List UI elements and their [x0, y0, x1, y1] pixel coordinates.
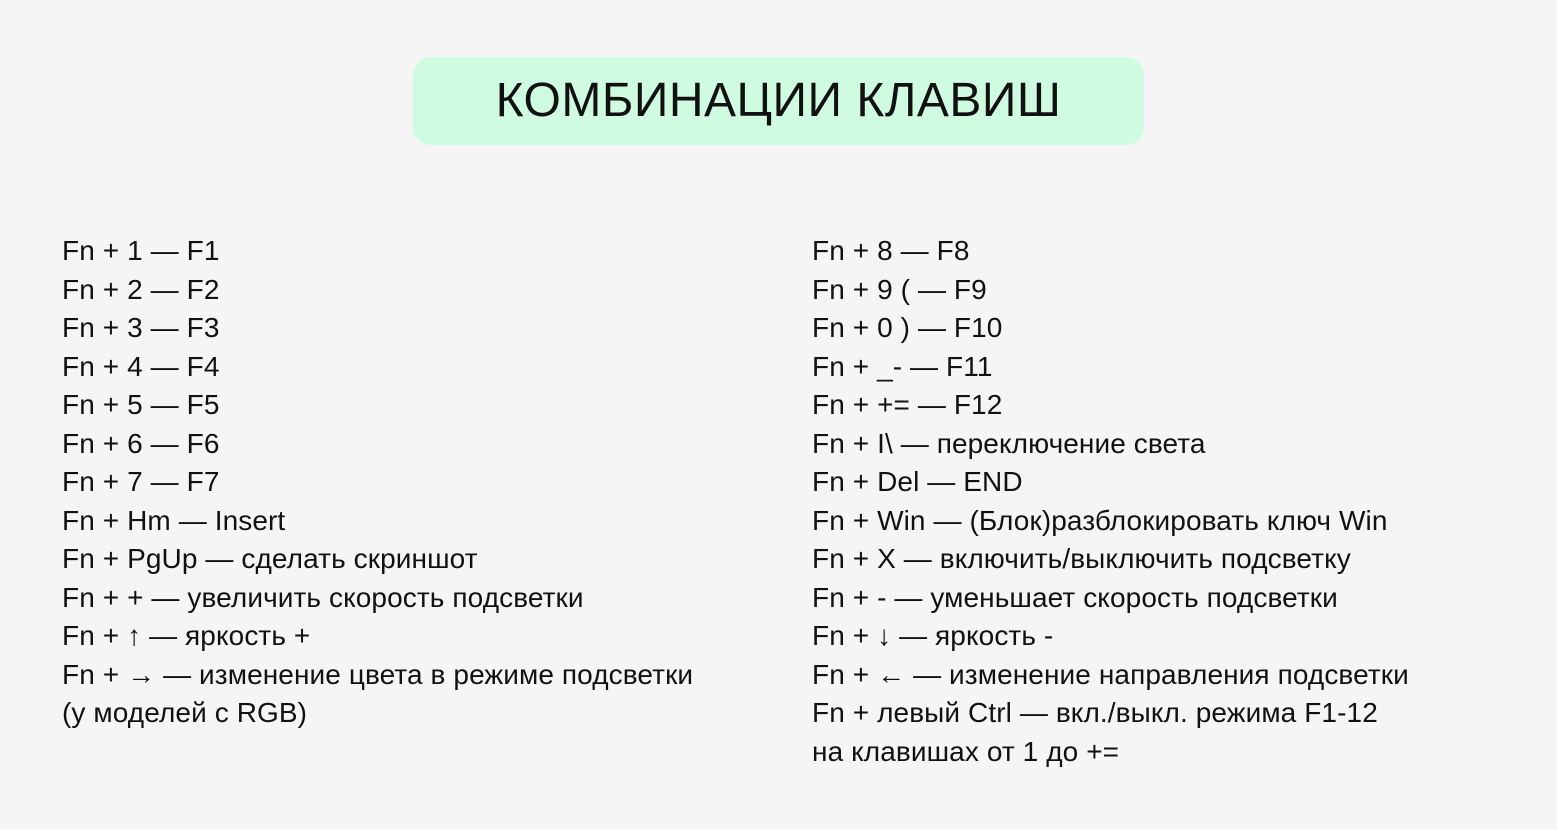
- shortcut-line: на клавишах от 1 до +=: [812, 733, 1537, 772]
- shortcut-line: Fn + I\ — переключение света: [812, 425, 1537, 464]
- shortcut-line: Fn + Win — (Блок)разблокировать ключ Win: [812, 502, 1537, 541]
- shortcut-line: (у моделей с RGB): [62, 694, 740, 733]
- shortcut-line: Fn + 4 — F4: [62, 348, 740, 387]
- shortcut-column-right: Fn + 8 — F8 Fn + 9 ( — F9 Fn + 0 ) — F10…: [750, 232, 1557, 771]
- shortcut-line: Fn + _- — F11: [812, 348, 1537, 387]
- shortcut-line: Fn + 8 — F8: [812, 232, 1537, 271]
- shortcut-line: Fn + 1 — F1: [62, 232, 740, 271]
- shortcut-line: Fn + ↑ — яркость +: [62, 617, 740, 656]
- shortcut-line: Fn + PgUp — сделать скриншот: [62, 540, 740, 579]
- page-title: КОМБИНАЦИИ КЛАВИШ: [496, 77, 1062, 125]
- shortcut-line: Fn + += — F12: [812, 386, 1537, 425]
- shortcut-line: Fn + ↓ — яркость -: [812, 617, 1537, 656]
- shortcut-line: Fn + 5 — F5: [62, 386, 740, 425]
- shortcut-line: Fn + 3 — F3: [62, 309, 740, 348]
- shortcut-line: Fn + левый Ctrl — вкл./выкл. режима F1-1…: [812, 694, 1537, 733]
- shortcut-line: Fn + Del — END: [812, 463, 1537, 502]
- shortcut-line: Fn + → — изменение цвета в режиме подсве…: [62, 656, 740, 695]
- shortcut-line: Fn + - — уменьшает скорость подсветки: [812, 579, 1537, 618]
- shortcut-line: Fn + 0 ) — F10: [812, 309, 1537, 348]
- title-banner: КОМБИНАЦИИ КЛАВИШ: [0, 57, 1557, 145]
- shortcut-line: Fn + 7 — F7: [62, 463, 740, 502]
- shortcut-line: Fn + X — включить/выключить подсветку: [812, 540, 1537, 579]
- shortcut-line: Fn + + — увеличить скорость подсветки: [62, 579, 740, 618]
- shortcut-line: Fn + 9 ( — F9: [812, 271, 1537, 310]
- shortcut-column-left: Fn + 1 — F1 Fn + 2 — F2 Fn + 3 — F3 Fn +…: [0, 232, 750, 733]
- shortcut-line: Fn + ← — изменение направления подсветки: [812, 656, 1537, 695]
- shortcut-line: Fn + Hm — Insert: [62, 502, 740, 541]
- shortcut-columns: Fn + 1 — F1 Fn + 2 — F2 Fn + 3 — F3 Fn +…: [0, 232, 1557, 792]
- shortcuts-infographic: КОМБИНАЦИИ КЛАВИШ Fn + 1 — F1 Fn + 2 — F…: [0, 0, 1557, 829]
- shortcut-line: Fn + 2 — F2: [62, 271, 740, 310]
- title-badge: КОМБИНАЦИИ КЛАВИШ: [413, 57, 1144, 145]
- shortcut-line: Fn + 6 — F6: [62, 425, 740, 464]
